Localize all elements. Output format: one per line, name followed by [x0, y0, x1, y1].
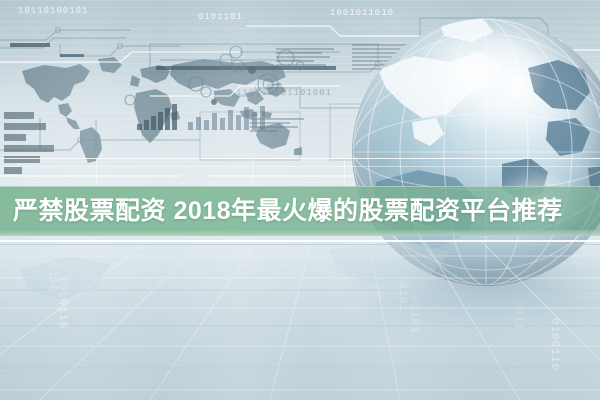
floor-haze [0, 230, 600, 400]
binary-text-top-2: 0101101 [198, 12, 243, 22]
horizontal-bar-chart [4, 112, 54, 174]
bar-chart-small [137, 104, 177, 130]
text-placeholder-block-lower [250, 118, 304, 132]
band-underline-secondary [0, 244, 600, 245]
perspective-floor-grid [0, 230, 600, 400]
divider-top [0, 158, 600, 159]
divider-top-2 [0, 166, 600, 167]
panel-divider-3 [344, 158, 345, 188]
band-underline [0, 240, 600, 242]
page-title: 严禁股票配资 2018年最火爆的股票配资平台推荐 [0, 199, 571, 224]
binary-text-mid: 110100101101001 [236, 88, 332, 98]
panel-divider-1 [96, 158, 97, 188]
panel-divider-2 [252, 158, 253, 188]
binary-text-top-3: 1001011010 [330, 8, 394, 18]
binary-text-top: 10110100101 [18, 6, 88, 16]
globe-highlight [395, 34, 550, 136]
text-placeholder-block-left [276, 48, 334, 70]
banner-image: 10110100101 0101101 1001011010 110100101… [0, 0, 600, 400]
title-banner-band: 严禁股票配资 2018年最火爆的股票配资平台推荐 [0, 186, 600, 236]
